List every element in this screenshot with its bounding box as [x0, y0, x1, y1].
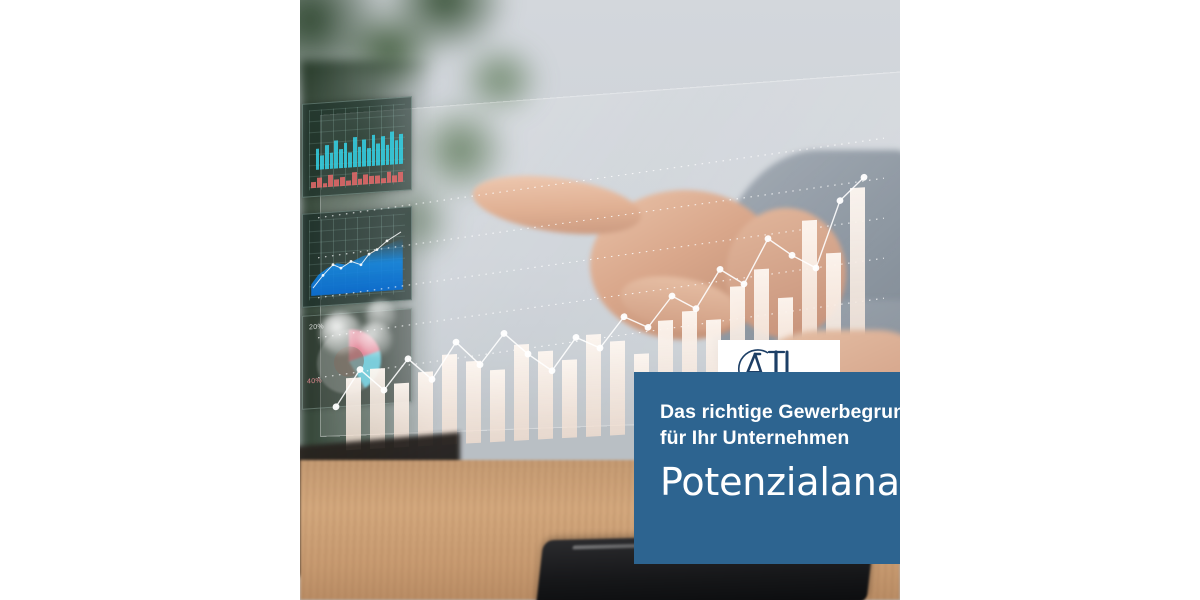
caption-kicker-line-2: für Ihr Unternehmen — [660, 427, 849, 449]
caption-kicker: Das richtige Gewerbegrundstück für Ihr U… — [660, 400, 900, 451]
caption-kicker-line-1: Das richtige Gewerbegrundstück — [660, 401, 900, 423]
caption-panel: Das richtige Gewerbegrundstück für Ihr U… — [634, 372, 900, 564]
page-canvas: 20% 40% — [0, 0, 1200, 600]
hero-photo: 20% 40% — [300, 0, 900, 600]
caption-headline: Potenzialanalyse — [660, 462, 900, 504]
